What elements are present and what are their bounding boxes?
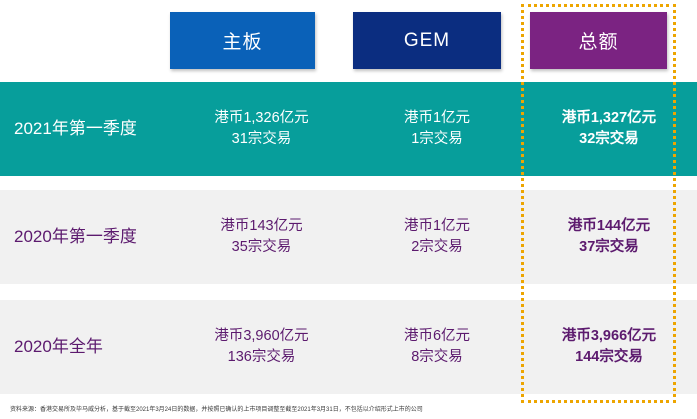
cell-total: 港币3,966亿元 144宗交易 <box>521 300 697 394</box>
table-row: 2020年全年 港币3,960亿元 136宗交易 港币6亿元 8宗交易 港币3,… <box>0 300 697 394</box>
column-header-main-board: 主板 <box>170 12 315 69</box>
cell-gem: 港币6亿元 8宗交易 <box>353 300 521 394</box>
column-header-gem: GEM <box>353 12 501 69</box>
table-row: 2020年第一季度 港币143亿元 35宗交易 港币1亿元 2宗交易 港币144… <box>0 190 697 284</box>
cell-total: 港币144亿元 37宗交易 <box>521 190 697 284</box>
cell-gem: 港币1亿元 1宗交易 <box>353 82 521 176</box>
cell-deals: 2宗交易 <box>411 237 463 258</box>
table-header-row: 主板 GEM 总额 <box>0 0 697 76</box>
cell-deals: 136宗交易 <box>228 347 296 368</box>
cell-amount: 港币1亿元 <box>404 216 470 237</box>
cell-main-board: 港币143亿元 35宗交易 <box>170 190 353 284</box>
cell-deals: 31宗交易 <box>232 129 292 150</box>
cell-amount: 港币143亿元 <box>220 216 302 237</box>
row-label-cell: 2020年全年 <box>0 300 170 394</box>
column-header-total-label: 总额 <box>578 27 618 54</box>
cell-gem: 港币1亿元 2宗交易 <box>353 190 521 284</box>
cell-deals: 144宗交易 <box>575 347 643 368</box>
column-header-main-board-label: 主板 <box>222 27 262 54</box>
row-label-cell: 2020年第一季度 <box>0 190 170 284</box>
cell-deals: 35宗交易 <box>232 237 292 258</box>
cell-deals: 1宗交易 <box>411 129 463 150</box>
cell-amount: 港币6亿元 <box>404 326 470 347</box>
cell-deals: 8宗交易 <box>411 347 463 368</box>
row-label: 2020年第一季度 <box>14 225 137 250</box>
row-label: 2020年全年 <box>14 335 103 360</box>
column-header-total: 总额 <box>530 12 667 69</box>
row-label-cell: 2021年第一季度 <box>0 82 170 176</box>
cell-total: 港币1,327亿元 32宗交易 <box>521 82 697 176</box>
cell-amount: 港币144亿元 <box>568 216 650 237</box>
listing-summary-table: 主板 GEM 总额 2021年第一季度 港币1,326亿元 31宗交易 港币1亿… <box>0 0 697 419</box>
cell-deals: 32宗交易 <box>579 129 639 150</box>
source-footnote: 资料来源：香港交易所及毕马威分析，基于截至2021年3月24日的数据，并按照已确… <box>10 404 670 413</box>
cell-amount: 港币3,960亿元 <box>214 326 308 347</box>
cell-amount: 港币1,326亿元 <box>214 108 308 129</box>
row-label: 2021年第一季度 <box>14 117 137 142</box>
cell-amount: 港币3,966亿元 <box>562 326 656 347</box>
column-header-gem-label: GEM <box>404 30 450 52</box>
cell-main-board: 港币1,326亿元 31宗交易 <box>170 82 353 176</box>
cell-amount: 港币1,327亿元 <box>562 108 656 129</box>
cell-amount: 港币1亿元 <box>404 108 470 129</box>
cell-deals: 37宗交易 <box>579 237 639 258</box>
table-row: 2021年第一季度 港币1,326亿元 31宗交易 港币1亿元 1宗交易 港币1… <box>0 82 697 176</box>
cell-main-board: 港币3,960亿元 136宗交易 <box>170 300 353 394</box>
